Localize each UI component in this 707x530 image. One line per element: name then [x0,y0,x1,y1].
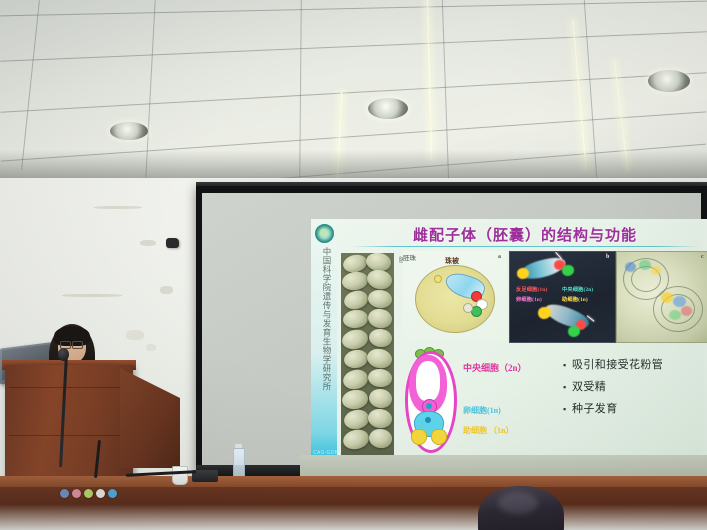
bullet-dot-icon: ▪ [563,403,572,416]
bullet-item: ▪ 双受精 [563,381,707,394]
embryo-sac-schematic [397,345,459,453]
synergid-cell [411,429,427,445]
confocal-label-egg: 卵细胞(1n) [516,296,542,303]
microphone-head [58,348,69,361]
slide-bullet-list: ▪ 吸引和接受花粉管 ▪ 双受精 ▪ 种子发育 [563,359,707,425]
confocal-label-synergid: 助细胞(1n) [562,296,588,303]
panel-letter-a: a [498,254,501,260]
bullet-item: ▪ 种子发育 [563,403,707,416]
title-divider [351,246,699,247]
podium-button-white[interactable] [96,489,105,498]
central-nucleus-dot [426,403,432,409]
podium-button-pink[interactable] [72,489,81,498]
podium-button-green[interactable] [84,489,93,498]
synergid-cell [431,429,447,445]
bullet-dot-icon: ▪ [563,381,572,394]
slide-title: 雌配子体（胚囊）的结构与功能 [355,224,695,245]
zhubei-label: 珠被 [445,256,459,266]
bullet-text: 双受精 [572,381,606,394]
bullet-text: 种子发育 [572,403,618,416]
confocal-panel-b: 反足细胞(1n) 中央细胞(2n) 卵细胞(1n) 助细胞(1n) b [509,251,616,343]
central-vacuole [416,361,440,401]
ceiling-downlight [648,70,690,92]
bullet-item: ▪ 吸引和接受花粉管 [563,359,707,372]
pizhu-label: 胚珠 [403,252,416,262]
sac-nucleus-yellow [434,275,442,283]
panel-letter-b: b [606,254,609,260]
sac-nucleus-pale [463,303,473,313]
ceiling [0,0,707,186]
wall-mounted-fixture [166,238,179,248]
egg-cell-nucleus [425,417,431,423]
confocal-label-antipodal: 反足细胞(1n) [516,286,547,293]
institute-seal-icon [315,224,334,243]
ceiling-downlight [368,98,408,119]
confocal-label-central: 中央细胞(2n) [562,286,593,293]
panel-letter-c: c [701,254,704,260]
bullet-dot-icon: ▪ [563,359,572,372]
podium-control-buttons[interactable] [60,489,122,498]
podium-button-blue[interactable] [60,489,69,498]
ovule-diagram-panel: a 珠被 [403,251,507,341]
podium-button-cyan[interactable] [108,489,117,498]
bullet-text: 吸引和接受花粉管 [572,359,663,372]
projected-slide: 中国科学院遗传与发育生物学研究所 CAS-GDB 雌配子体（胚囊）的结构与功能 [311,219,707,462]
label-synergid-cell: 助细胞 （1n） [463,425,513,436]
paper-cup [172,466,188,485]
sem-ovule-image [341,253,394,458]
audience-hair-highlight [498,492,538,514]
label-central-cell: 中央细胞（2n） [463,361,527,374]
institute-vertical-text: 中国科学院遗传与发育生物学研究所 [317,247,332,397]
ceiling-downlight [110,122,148,140]
confocal-panel-c: c [616,251,707,343]
lecture-hall-photo: 中国科学院遗传与发育生物学研究所 CAS-GDB 雌配子体（胚囊）的结构与功能 [0,0,707,530]
presenter-glasses [60,341,83,347]
label-egg-cell: 卵细胞(1n) [463,405,501,416]
